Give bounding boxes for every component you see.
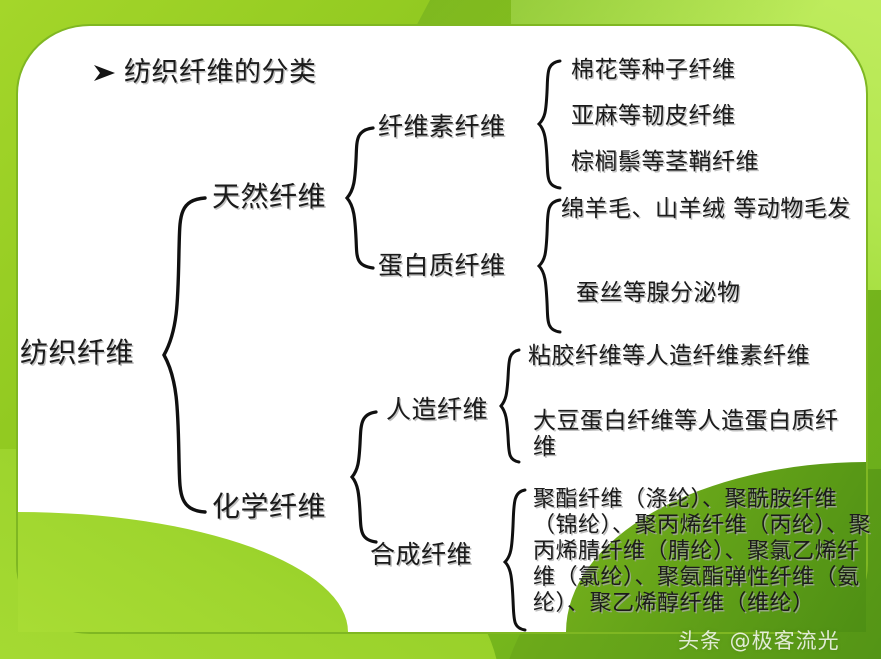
leaf-seed-fiber: 棉花等种子纤维 [571,57,736,83]
page-title: 纺织纤维的分类 [124,58,317,89]
brace-synthetic [505,490,525,630]
slide-canvas: 纺织纤维的分类 纺织纤维 天然纤维 化学纤维 纤维素纤维 蛋白质纤维 人造纤维 … [0,0,881,659]
watermark: 头条 @极客流光 [678,625,840,655]
leaf-soy-protein-fiber: 大豆蛋白纤维等人造蛋白质纤维 [533,408,843,460]
brace-artificial [501,350,519,462]
node-root-textile-fiber: 纺织纤维 [20,337,134,369]
brace-cellulose [539,61,560,188]
brace-protein [539,200,560,332]
leaf-animal-hair: 绵羊毛、山羊绒 等动物毛发 [561,196,881,222]
fiber-classification-diagram: 纺织纤维的分类 纺织纤维 天然纤维 化学纤维 纤维素纤维 蛋白质纤维 人造纤维 … [0,0,881,659]
leaf-synthetic-polymer-fibers: 聚酯纤维（涤纶）、聚酰胺纤维（锦纶）、聚丙烯纤维（丙纶）、聚丙烯腈纤维（腈纶）、… [533,487,881,617]
node-chemical-fiber: 化学纤维 [212,491,326,523]
brace-root [164,198,205,512]
brace-chemical [352,412,376,542]
node-artificial-fiber: 人造纤维 [386,396,488,425]
brace-natural [347,128,373,268]
leaf-silk-gland-secretion: 蚕丝等腺分泌物 [576,280,741,306]
node-cellulose-fiber: 纤维素纤维 [378,113,506,142]
leaf-stalk-sheath-fiber: 棕榈鬃等茎鞘纤维 [571,149,759,175]
node-natural-fiber: 天然纤维 [212,181,326,213]
node-synthetic-fiber: 合成纤维 [370,541,472,570]
node-protein-fiber: 蛋白质纤维 [378,252,506,281]
arrow-bullet-icon [92,62,118,84]
leaf-bast-fiber: 亚麻等韧皮纤维 [571,103,736,129]
leaf-viscose-fiber: 粘胶纤维等人造纤维素纤维 [528,343,810,369]
